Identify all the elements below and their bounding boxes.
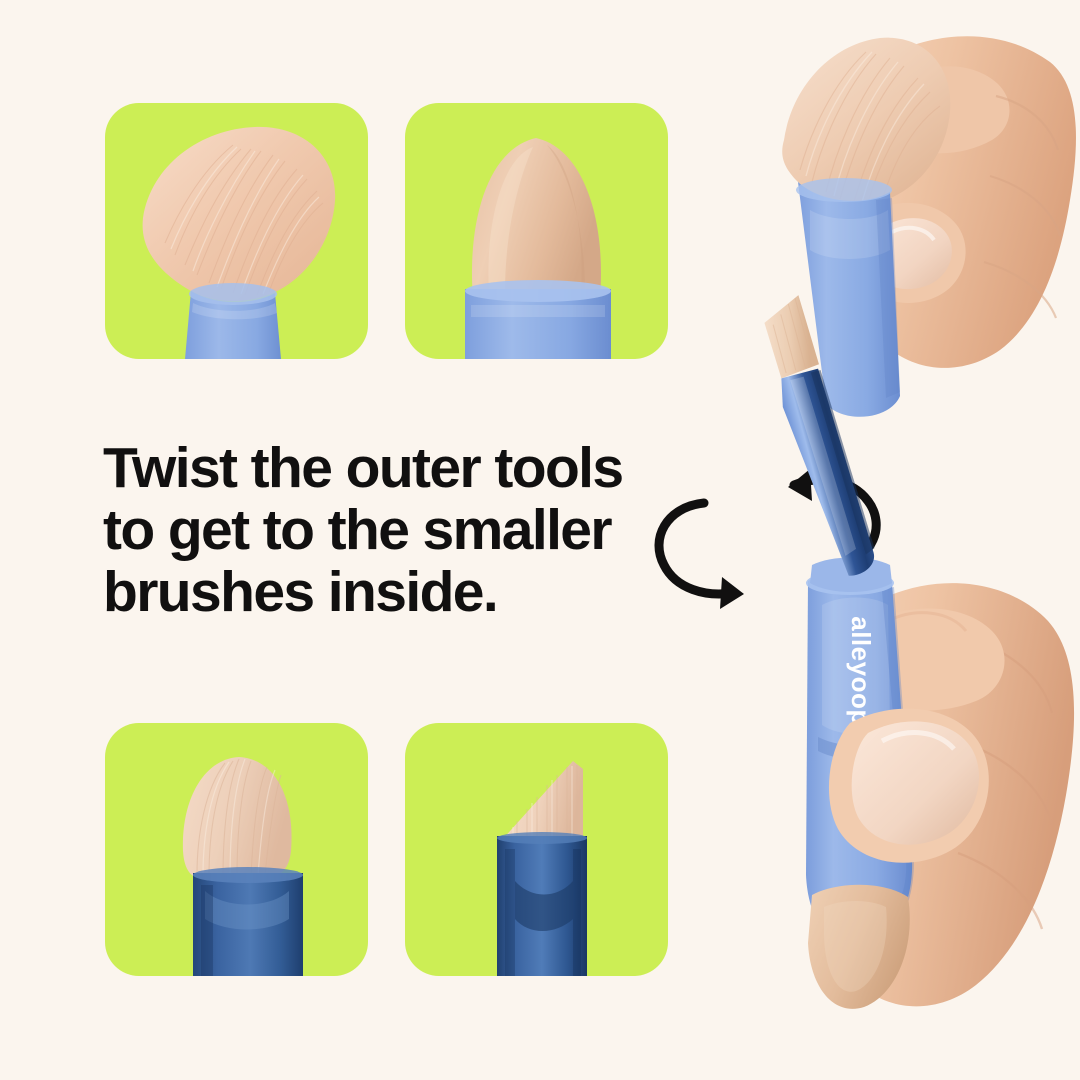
tile-bottom-right xyxy=(405,723,668,976)
angled-liner-brow-brush-icon xyxy=(405,723,668,976)
infographic-canvas: Twist the outer tools to get to the smal… xyxy=(0,0,1080,1080)
tile-top-right xyxy=(405,103,668,359)
brand-wordmark: alleyoop xyxy=(846,616,876,725)
headline-line-2: to get to the smaller xyxy=(103,499,683,561)
large-angled-powder-brush-icon xyxy=(105,103,368,359)
tile-top-left xyxy=(105,103,368,359)
headline-line-1: Twist the outer tools xyxy=(103,437,683,499)
headline-line-3: brushes inside. xyxy=(103,561,683,623)
dome-blending-sponge-icon xyxy=(405,103,668,359)
small-flat-blush-brush-icon xyxy=(105,723,368,976)
tile-bottom-left xyxy=(105,723,368,976)
hand-holding-alleyoop-pen-photo: alleyoop xyxy=(700,455,1080,1080)
headline-text: Twist the outer tools to get to the smal… xyxy=(103,437,683,623)
